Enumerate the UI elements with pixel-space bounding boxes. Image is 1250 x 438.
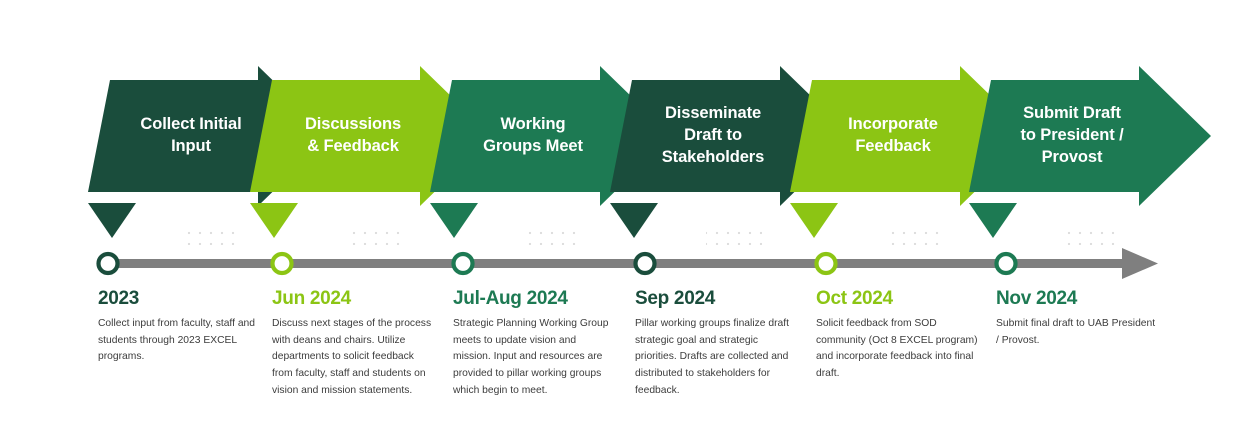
dot-decoration-3 [706,228,762,245]
entry-description-1: Discuss next stages of the process with … [272,316,435,399]
dot-decorations [184,228,1121,245]
entry-description-0: Collect input from faculty, staff and st… [98,316,261,366]
dot-decoration-0 [184,228,240,245]
timeline-entry-3: Sep 2024 Pillar working groups finalize … [635,288,798,399]
arrow-banners [88,66,1211,206]
entry-date-5: Nov 2024 [996,288,1159,310]
entry-date-0: 2023 [98,288,261,310]
arrow-pointer-4 [790,203,838,238]
dot-decoration-2 [526,228,582,245]
timeline-entry-1: Jun 2024 Discuss next stages of the proc… [272,288,435,399]
milestone-marker-1[interactable] [273,254,292,273]
milestone-marker-4[interactable] [817,254,836,273]
arrow-pointer-2 [430,203,478,238]
timeline-entry-4: Oct 2024 Solicit feedback from SOD commu… [816,288,979,383]
timeline-infographic: Collect InitialInput Discussions& Feedba… [0,0,1250,438]
arrow-pointer-5 [969,203,1017,238]
timeline-entry-2: Jul-Aug 2024 Strategic Planning Working … [453,288,616,399]
arrow-pointer-3 [610,203,658,238]
milestone-marker-5[interactable] [997,254,1016,273]
milestone-marker-3[interactable] [636,254,655,273]
milestone-marker-0[interactable] [99,254,118,273]
entry-description-5: Submit final draft to UAB President / Pr… [996,316,1159,349]
dot-decoration-1 [346,228,402,245]
milestone-marker-2[interactable] [454,254,473,273]
entry-date-3: Sep 2024 [635,288,798,310]
timeline-entry-0: 2023 Collect input from faculty, staff a… [98,288,261,366]
entry-date-1: Jun 2024 [272,288,435,310]
entry-description-4: Solicit feedback from SOD community (Oct… [816,316,979,383]
timeline-graphics [0,0,1250,438]
entry-date-2: Jul-Aug 2024 [453,288,616,310]
arrow-banner-5 [969,66,1211,206]
arrow-pointer-0 [88,203,136,238]
arrow-pointer-1 [250,203,298,238]
entry-description-3: Pillar working groups finalize draft str… [635,316,798,399]
dot-decoration-5 [1065,228,1121,245]
dot-decoration-4 [886,228,942,245]
timeline-entry-5: Nov 2024 Submit final draft to UAB Presi… [996,288,1159,349]
entry-description-2: Strategic Planning Working Group meets t… [453,316,616,399]
entry-date-4: Oct 2024 [816,288,979,310]
